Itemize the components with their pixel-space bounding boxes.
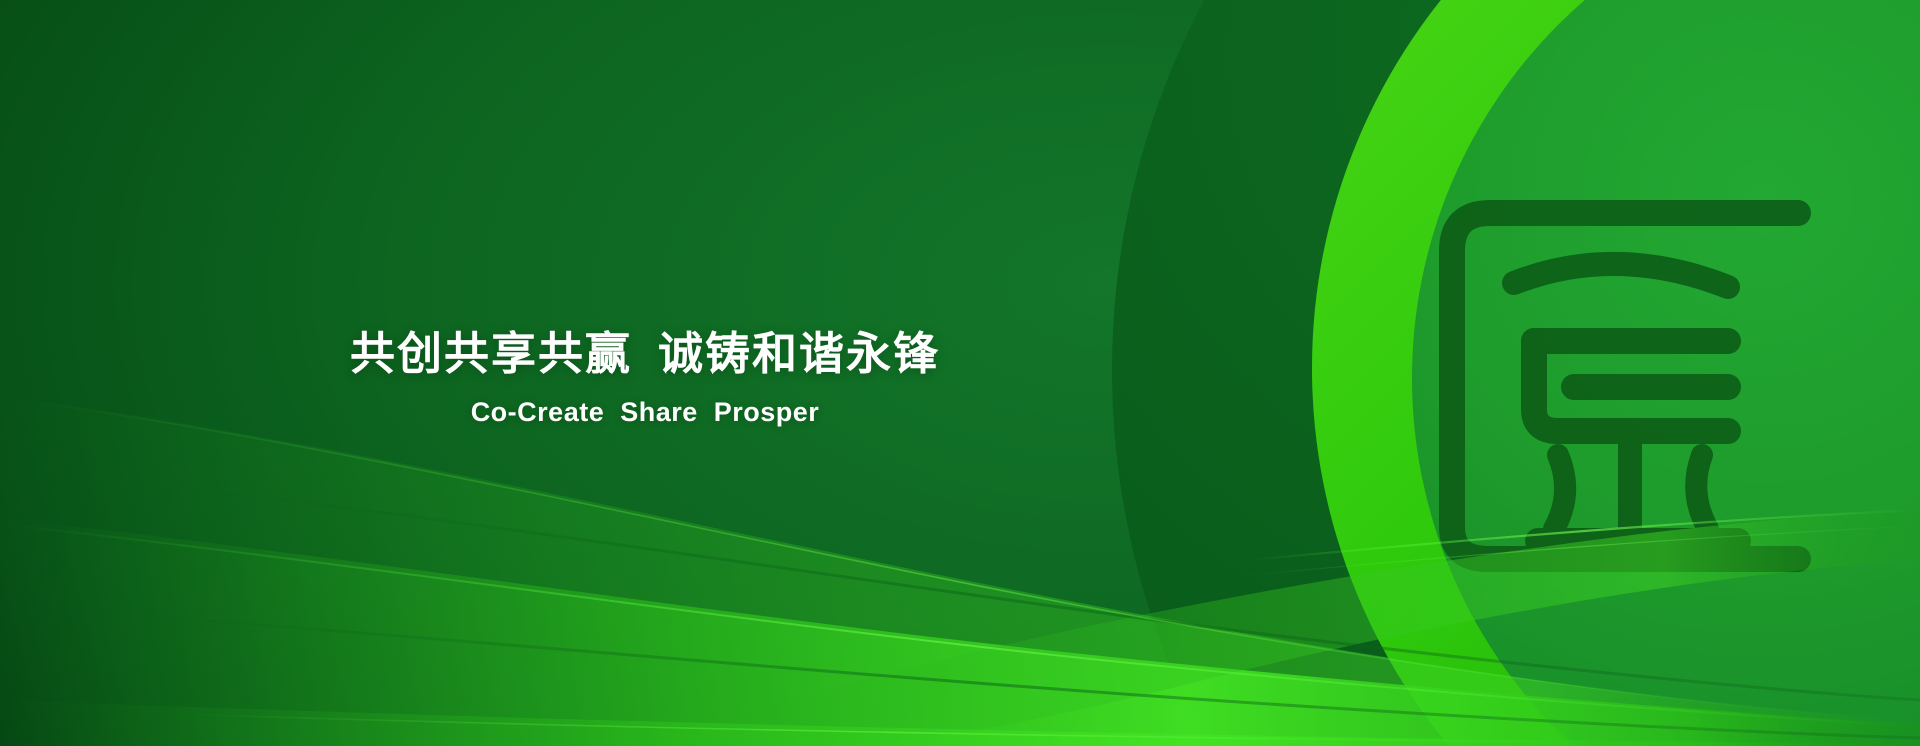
subtitle-word-3: Prosper	[714, 397, 820, 427]
subtitle-word-2: Share	[620, 397, 698, 427]
banner-text-block: 共创共享共赢诚铸和谐永锋 Co-CreateShareProsper	[0, 0, 1290, 746]
subtitle-word-1: Co-Create	[471, 397, 605, 427]
headline-phrase-2: 诚铸和谐永锋	[658, 328, 940, 379]
banner-subtitle: Co-CreateShareProsper	[471, 397, 820, 428]
hero-banner: 共创共享共赢诚铸和谐永锋 Co-CreateShareProsper	[0, 0, 1920, 746]
banner-headline: 共创共享共赢诚铸和谐永锋	[350, 328, 940, 380]
headline-phrase-1: 共创共享共赢	[350, 328, 632, 379]
